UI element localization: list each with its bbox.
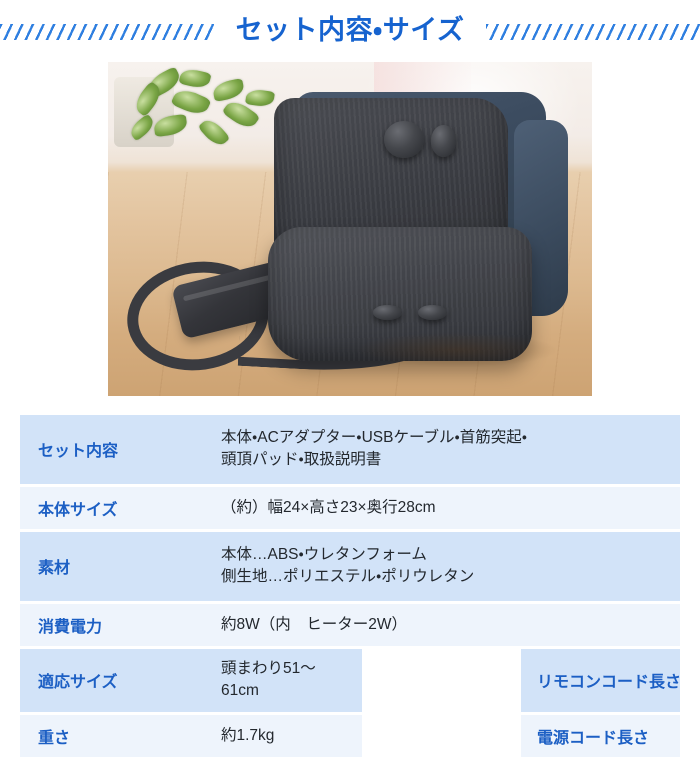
spec-label-set-contents: セット内容 [20,415,203,484]
spec-value-set-contents: 本体・ACアダプター・USBケーブル・首筋突起・ 頭頂パッド・取扱説明書 [203,415,680,484]
spec-value-body-size: （約）幅24×高さ23×奥行28cm [203,487,680,529]
slash-decoration-right-icon [486,24,700,40]
massage-cushion [268,92,568,373]
massage-node-seat-right [418,305,447,320]
spec-label-weight: 重さ [20,715,203,757]
spec-value-line: 本体・ACアダプター・USBケーブル・首筋突起・ [221,427,670,449]
spec-label-material: 素材 [20,532,203,601]
photo-background [108,62,592,396]
slash-decoration-left-icon [0,24,214,40]
massage-node-back-right [431,125,457,157]
section-header-banner: セット内容・サイズ [0,0,700,62]
spec-label-remote-cord-length: リモコンコード長さ [521,659,700,701]
spec-value-power-consumption: 約8W（内 ヒーター2W） [203,604,680,646]
cushion-shadow [358,333,556,367]
spec-pair-power-cord: 電源コード長さ 約2m [521,715,680,757]
spec-label-power-consumption: 消費電力 [20,604,203,646]
massage-node-seat-left [373,305,402,320]
table-row: セット内容 本体・ACアダプター・USBケーブル・首筋突起・ 頭頂パッド・取扱説… [20,415,680,484]
spec-label-fit-size: 適応サイズ [20,649,203,712]
table-row: 重さ 約1.7kg 電源コード長さ 約2m [20,715,680,757]
table-row: 素材 本体…ABS・ウレタンフォーム 側生地…ポリエステル・ポリウレタン [20,532,680,601]
spec-pair-remote-cord: リモコンコード長さ 約50cm [521,649,680,712]
spec-value-fit-size: 頭まわり51〜61cm [203,649,362,712]
spec-table-body: セット内容 本体・ACアダプター・USBケーブル・首筋突起・ 頭頂パッド・取扱説… [20,415,680,757]
page-title: セット内容・サイズ [236,17,465,46]
specification-table: セット内容 本体・ACアダプター・USBケーブル・首筋突起・ 頭頂パッド・取扱説… [20,412,680,760]
column-divider [362,715,521,757]
column-divider [362,649,521,712]
spec-value-line: 頭頂パッド・取扱説明書 [221,449,670,471]
massage-node-back-left [384,121,424,158]
spec-value-line: 本体…ABS・ウレタンフォーム [221,544,670,566]
spec-label-power-cord-length: 電源コード長さ [521,715,700,757]
spec-label-body-size: 本体サイズ [20,487,203,529]
table-row: 消費電力 約8W（内 ヒーター2W） [20,604,680,646]
product-photo [108,62,592,396]
spec-value-line: 側生地…ポリエステル・ポリウレタン [221,566,670,588]
table-row: 本体サイズ （約）幅24×高さ23×奥行28cm [20,487,680,529]
spec-value-weight: 約1.7kg [203,715,362,757]
spec-value-material: 本体…ABS・ウレタンフォーム 側生地…ポリエステル・ポリウレタン [203,532,680,601]
table-row: 適応サイズ 頭まわり51〜61cm リモコンコード長さ 約50cm [20,649,680,712]
